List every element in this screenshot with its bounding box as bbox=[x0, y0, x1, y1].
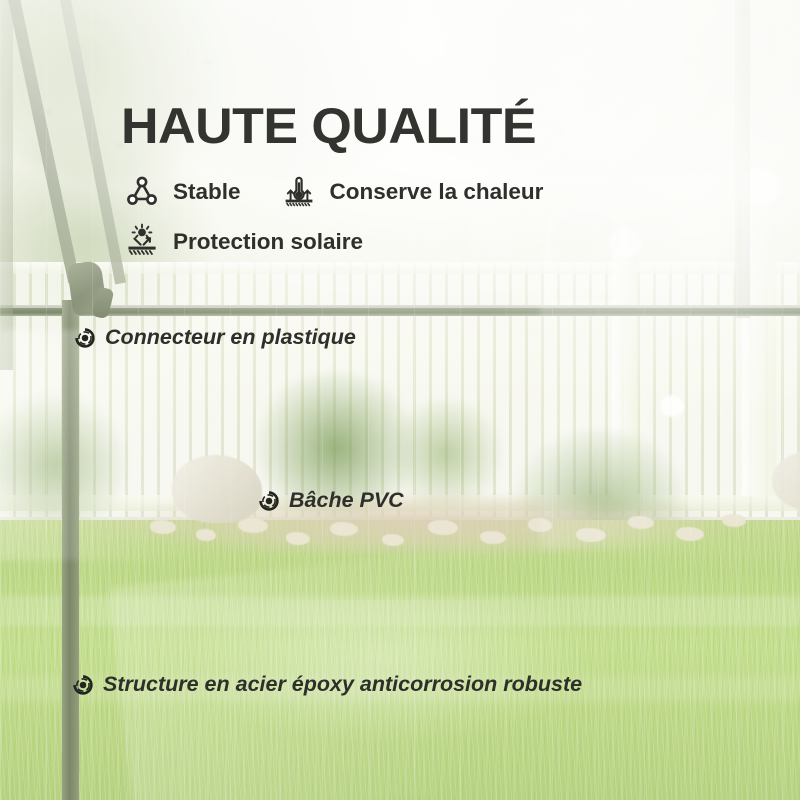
feature-stable: Stable bbox=[122, 172, 241, 212]
callout-label: Connecteur en plastique bbox=[105, 325, 356, 350]
target-marker-icon bbox=[72, 674, 94, 696]
callout-steel-structure: Structure en acier époxy anticorrosion r… bbox=[72, 672, 582, 697]
marketing-overlay: HAUTE QUALITÉ Stable bbox=[0, 0, 800, 800]
sun-protection-icon bbox=[122, 222, 162, 262]
feature-row: Protection solaire bbox=[122, 222, 363, 262]
product-feature-image: HAUTE QUALITÉ Stable bbox=[0, 0, 800, 800]
feature-label: Conserve la chaleur bbox=[330, 179, 544, 205]
page-title: HAUTE QUALITÉ bbox=[121, 97, 536, 155]
feature-sun-protection: Protection solaire bbox=[122, 222, 363, 262]
callout-plastic-connector: Connecteur en plastique bbox=[74, 325, 356, 350]
callout-pvc-cover: Bâche PVC bbox=[258, 488, 404, 513]
feature-heat-retention: Conserve la chaleur bbox=[279, 172, 544, 212]
stability-triangle-icon bbox=[122, 172, 162, 212]
feature-label: Protection solaire bbox=[173, 229, 363, 255]
callout-label: Bâche PVC bbox=[289, 488, 404, 513]
callout-label: Structure en acier époxy anticorrosion r… bbox=[103, 672, 582, 697]
feature-row: Stable bbox=[122, 172, 543, 212]
target-marker-icon bbox=[258, 490, 280, 512]
thermometer-heat-retention-icon bbox=[279, 172, 319, 212]
target-marker-icon bbox=[74, 327, 96, 349]
feature-label: Stable bbox=[173, 179, 241, 205]
